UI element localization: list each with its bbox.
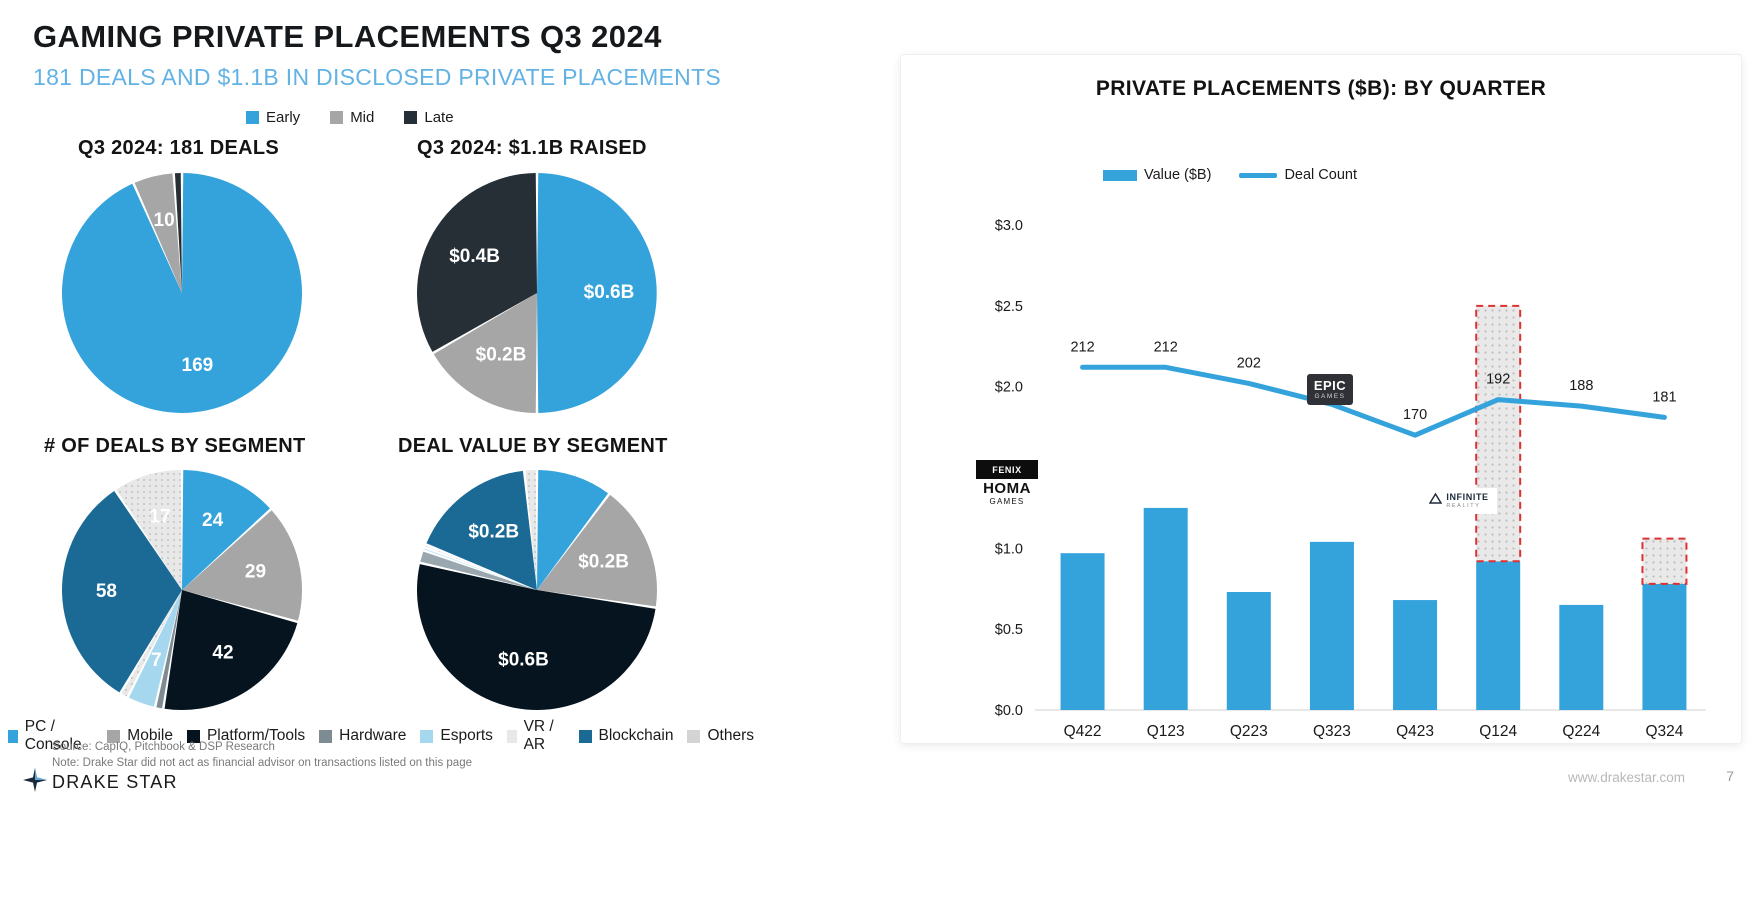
bar-chart-panel: PRIVATE PLACEMENTS ($B): BY QUARTER Valu… (901, 55, 1741, 743)
legend-item-early: Early (246, 109, 300, 126)
x-axis-tick-label: Q324 (1645, 723, 1683, 740)
bar (1227, 592, 1271, 710)
legend-swatch-mid (330, 111, 343, 124)
pie-slice-label: 17 (149, 507, 170, 528)
y-axis-tick-label: $2.0 (995, 380, 1023, 396)
pie-slice-label: 7 (151, 650, 162, 671)
legend-label-others: Others (707, 727, 754, 745)
drake-star-burst-icon (22, 767, 48, 798)
legend-item-others: Others (687, 727, 754, 745)
pie-slice-label: 169 (182, 355, 214, 376)
pie-slice-label: $0.2B (578, 552, 629, 573)
pie-title-value-by-segment: DEAL VALUE BY SEGMENT (398, 435, 668, 458)
deal-count-data-label: 202 (1237, 355, 1261, 371)
legend-swatch-late (404, 111, 417, 124)
deal-count-data-label: 188 (1569, 378, 1593, 394)
pie-slice-label: $0.2B (468, 521, 519, 542)
bar (1393, 600, 1437, 710)
legend-item-vr-ar: VR / AR (507, 718, 565, 754)
pie-slice-label: 24 (202, 510, 224, 531)
site-url: www.drakestar.com (1568, 770, 1685, 785)
x-axis-tick-label: Q124 (1479, 723, 1517, 740)
pie-chart-deals-by-stage: 16910 (57, 168, 307, 418)
legend-swatch-early (246, 111, 259, 124)
y-axis-tick-label: $3.0 (995, 218, 1023, 234)
pie-slice-label: 58 (96, 581, 117, 602)
x-axis-tick-label: Q223 (1230, 723, 1268, 740)
pie-slice-label: $0.2B (476, 344, 527, 365)
logo-ir-text: INFINITE (1446, 493, 1488, 502)
bar (1642, 584, 1686, 710)
pie-chart-deals-by-segment: 24294275817 (57, 465, 307, 715)
logo-fenix-text: FENIX (992, 465, 1022, 475)
pie-chart-value-by-stage: $0.6B$0.2B$0.4B (412, 168, 662, 418)
bar (1310, 542, 1354, 710)
deal-count-data-label: 170 (1403, 407, 1427, 423)
pie-slice-label: $0.6B (584, 282, 635, 303)
legend-swatch-vr-ar (507, 730, 517, 743)
logo-fenix-games: FENIX (976, 460, 1038, 479)
x-axis-tick-label: Q323 (1313, 723, 1351, 740)
page-number: 7 (1726, 768, 1734, 784)
legend-label-vr-ar: VR / AR (524, 718, 565, 754)
stage-legend: Early Mid Late (246, 109, 454, 126)
bar (1144, 508, 1188, 710)
x-axis-tick-label: Q224 (1562, 723, 1600, 740)
legend-label-blockchain: Blockchain (599, 727, 674, 745)
bar-highlight-segment (1642, 539, 1686, 584)
logo-ir-subtext: REALITY (1446, 504, 1488, 510)
page-subtitle: 181 DEALS AND $1.1B IN DISCLOSED PRIVATE… (33, 64, 721, 91)
x-axis-tick-label: Q422 (1064, 723, 1102, 740)
y-axis-tick-label: $0.5 (995, 622, 1023, 638)
pie-slice-label: 42 (212, 643, 233, 664)
logo-epic-text: EPIC (1314, 379, 1346, 392)
pie-title-value-by-stage: Q3 2024: $1.1B RAISED (417, 137, 647, 160)
pie-slice-label: $0.6B (498, 650, 549, 671)
deal-count-data-label: 212 (1154, 339, 1178, 355)
brand-name: DRAKE STAR (52, 772, 178, 793)
bar-highlight-segment (1476, 306, 1520, 561)
infinite-reality-mark-icon (1429, 492, 1442, 510)
legend-item-blockchain: Blockchain (579, 727, 674, 745)
legend-swatch-blockchain (579, 730, 592, 743)
logo-homa-games: HOMA GAMES (976, 479, 1038, 507)
logo-homa-text: HOMA (983, 481, 1031, 496)
bar (1061, 553, 1105, 710)
pie-title-deals-by-segment: # OF DEALS BY SEGMENT (44, 435, 306, 458)
x-axis-tick-label: Q423 (1396, 723, 1434, 740)
logo-epic-games: EPIC GAMES (1307, 374, 1353, 405)
y-axis-tick-label: $0.0 (995, 703, 1023, 719)
bar (1559, 605, 1603, 710)
logo-infinite-reality: INFINITE REALITY (1421, 488, 1497, 514)
legend-label-mid: Mid (350, 109, 374, 126)
legend-item-mid: Mid (330, 109, 374, 126)
pie-slice-label: $0.4B (449, 246, 500, 267)
pie-chart-value-by-segment: $0.2B$0.6B$0.2B (412, 465, 662, 715)
legend-swatch-others (687, 730, 700, 743)
legend-item-late: Late (404, 109, 453, 126)
legend-swatch-pc-console (8, 730, 18, 743)
page-title: GAMING PRIVATE PLACEMENTS Q3 2024 (33, 19, 662, 55)
logo-homa-subtext: GAMES (990, 498, 1025, 506)
y-axis-tick-label: $2.5 (995, 299, 1023, 315)
bar (1476, 561, 1520, 710)
pie-slice (62, 173, 302, 413)
y-axis-tick-label: $1.0 (995, 541, 1023, 557)
legend-label-late: Late (424, 109, 453, 126)
x-axis-tick-label: Q123 (1147, 723, 1185, 740)
deal-count-data-label: 192 (1486, 372, 1510, 388)
footnote-source: Source: CapIQ, Pitchbook & DSP Research (52, 740, 472, 756)
deal-count-data-label: 212 (1070, 339, 1094, 355)
pie-title-deals-by-stage: Q3 2024: 181 DEALS (78, 137, 279, 160)
deal-count-data-label: 181 (1652, 389, 1676, 405)
legend-label-early: Early (266, 109, 300, 126)
logo-epic-subtext: GAMES (1315, 394, 1346, 401)
slide-root: GAMING PRIVATE PLACEMENTS Q3 2024 181 DE… (0, 0, 1758, 910)
brand-logo: DRAKE STAR (22, 767, 178, 798)
pie-slice-label: 10 (154, 210, 175, 231)
pie-slice-label: 29 (245, 561, 266, 582)
